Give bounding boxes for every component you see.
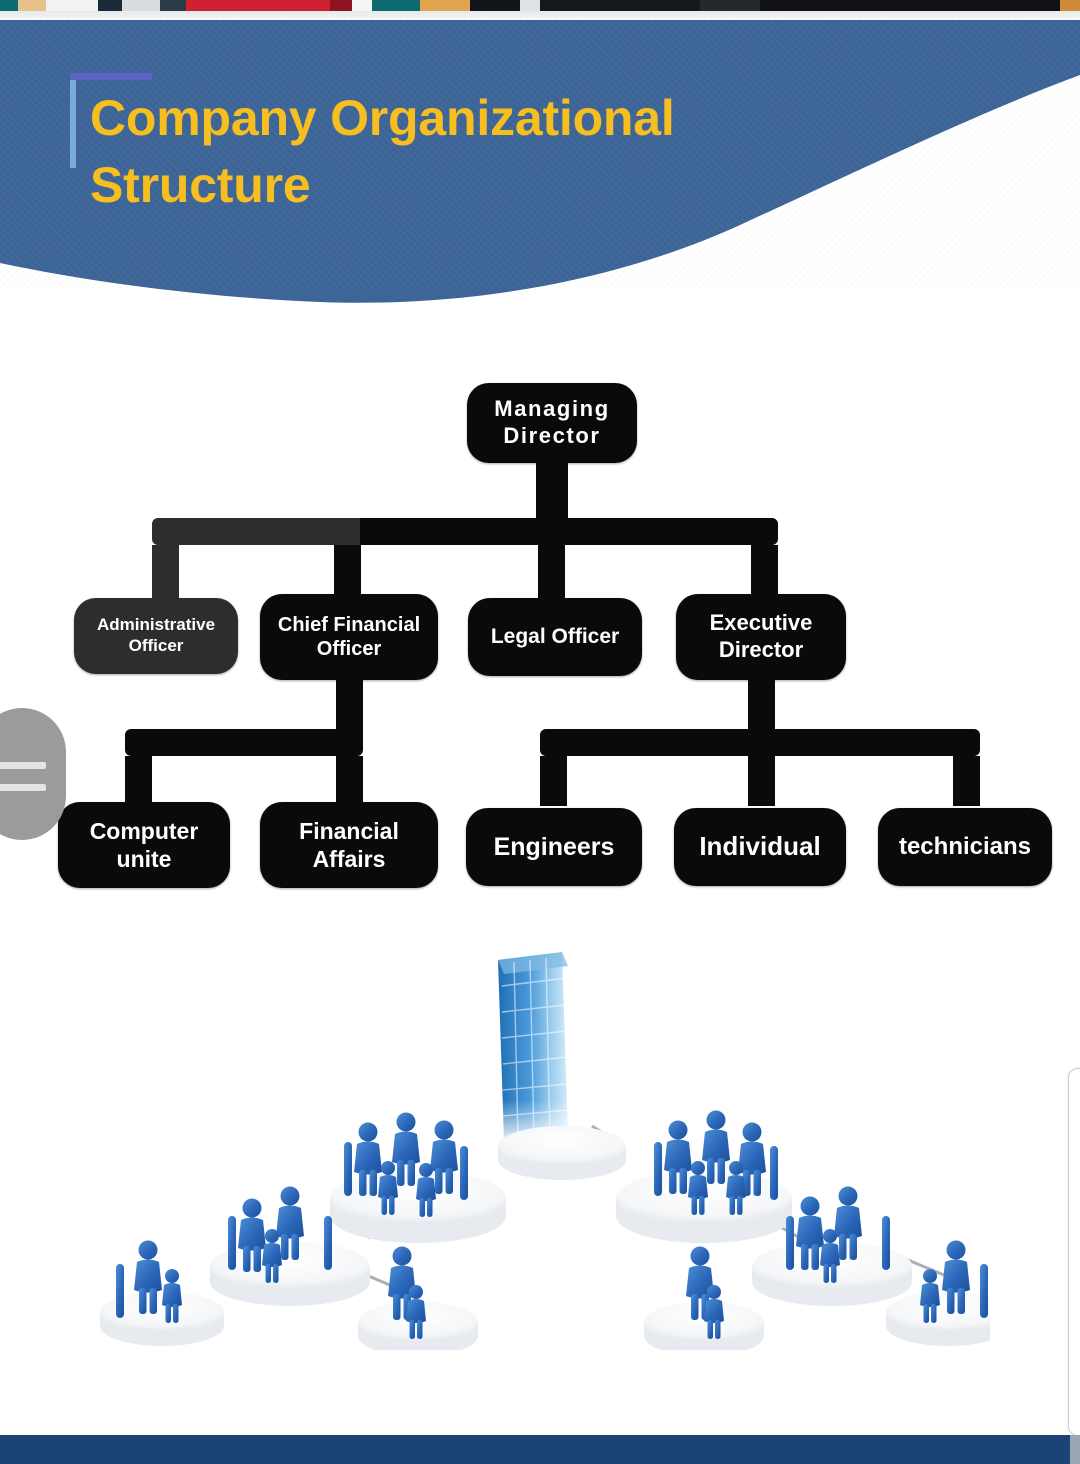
edge-drop-individual — [748, 756, 775, 806]
title-accent-vertical — [70, 80, 76, 168]
edge-drop-financial-affairs — [336, 756, 363, 806]
edge-drop-chief-financial-officer — [334, 545, 361, 601]
drag-handle-line-top — [0, 762, 46, 769]
edge-drop-engineers — [540, 756, 567, 806]
org-node-executive-director[interactable]: Executive Director — [676, 594, 846, 680]
org-node-legal-officer[interactable]: Legal Officer — [468, 598, 642, 676]
edge-drop-technicians — [953, 756, 980, 806]
slide-page: Company Organizational Structure Managin… — [0, 0, 1080, 1464]
org-chart: Managing Director Administrative Officer… — [0, 330, 1080, 930]
page-title: Company Organizational Structure — [90, 85, 850, 218]
edge-bus-ed — [540, 729, 980, 756]
org-node-individual[interactable]: Individual — [674, 808, 846, 886]
edge-bus-level2-left — [152, 518, 362, 545]
slide-gap — [0, 11, 1080, 20]
org-network-illustration — [100, 950, 990, 1350]
title-accent-horizontal — [70, 73, 152, 80]
right-side-panel-edge[interactable] — [1068, 1068, 1080, 1436]
bottom-navigation-bar — [0, 1435, 1080, 1464]
edge-md-stem — [536, 463, 568, 523]
org-node-financial-affairs[interactable]: Financial Affairs — [260, 802, 438, 888]
org-node-computer-unite[interactable]: Computer unite — [58, 802, 230, 888]
edge-drop-executive-director — [751, 545, 778, 601]
edge-bus-level2-right — [360, 518, 778, 545]
edge-bus-cfo — [125, 729, 363, 756]
org-node-chief-financial-officer[interactable]: Chief Financial Officer — [260, 594, 438, 680]
edge-drop-legal-officer — [538, 545, 565, 601]
drag-handle[interactable] — [0, 708, 66, 840]
org-node-managing-director[interactable]: Managing Director — [467, 383, 637, 463]
edge-drop-computer-unite — [125, 756, 152, 806]
org-node-technicians[interactable]: technicians — [878, 808, 1052, 886]
edge-drop-administrative-officer — [152, 545, 179, 601]
previous-slide-sliver — [0, 0, 1080, 11]
scrollbar-thumb[interactable] — [1070, 1435, 1080, 1464]
org-node-engineers[interactable]: Engineers — [466, 808, 642, 886]
org-node-administrative-officer[interactable]: Administrative Officer — [74, 598, 238, 674]
drag-handle-line-bottom — [0, 784, 46, 791]
